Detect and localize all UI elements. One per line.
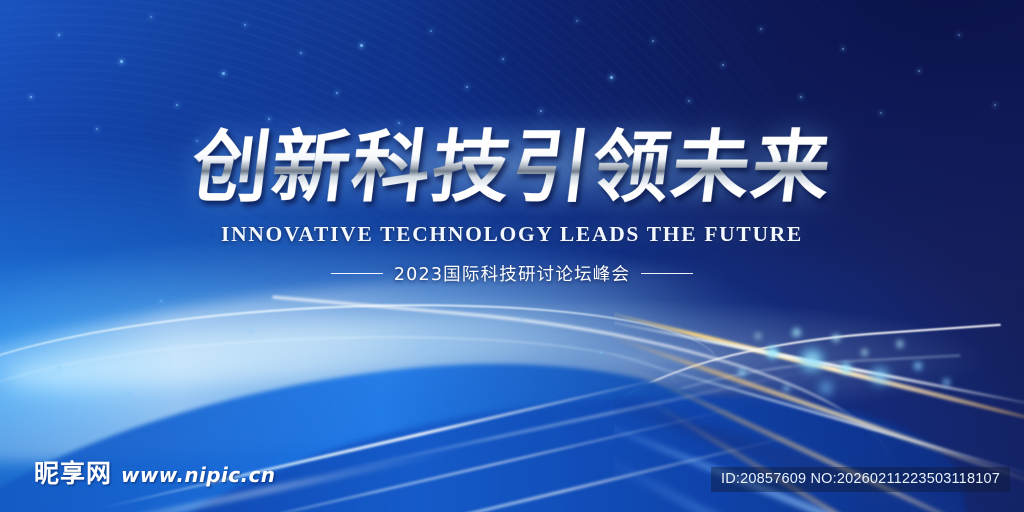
- asset-id-text: ID:20857609 NO:20260211223503118107: [721, 471, 1000, 487]
- light-particle: [340, 312, 342, 314]
- watermark-logo: 昵享网: [34, 454, 112, 490]
- light-particle: [610, 76, 613, 79]
- light-particle: [160, 300, 162, 302]
- light-particle: [520, 318, 522, 320]
- light-particle: [176, 104, 178, 106]
- bokeh-particle: [755, 333, 761, 339]
- light-particle: [128, 392, 130, 394]
- light-particle: [58, 366, 60, 368]
- light-particle: [360, 44, 363, 47]
- light-particle: [800, 96, 802, 98]
- bokeh-particle: [819, 381, 833, 395]
- wave-ribbon-3: [262, 295, 905, 476]
- light-particle: [880, 112, 882, 114]
- light-particle: [430, 30, 432, 32]
- light-particle: [918, 70, 920, 72]
- light-particle: [250, 330, 252, 332]
- light-particle: [420, 348, 422, 350]
- light-particle: [760, 28, 762, 30]
- light-particle: [120, 60, 123, 63]
- light-trail-white-1: [614, 315, 1024, 411]
- light-particle: [466, 86, 468, 88]
- light-particle: [576, 20, 578, 22]
- watermark-url[interactable]: www.nipic.cn: [121, 463, 275, 487]
- bokeh-particle: [871, 367, 889, 385]
- light-particle: [722, 64, 724, 66]
- watermark[interactable]: 昵享网 www.nipic.cn: [34, 454, 275, 490]
- light-particle: [300, 52, 302, 54]
- subtitle-english: INNOVATIVE TECHNOLOGY LEADS THE FUTURE: [0, 222, 1024, 247]
- light-particle: [540, 110, 542, 112]
- light-trail-white-2: [614, 347, 1024, 480]
- bokeh-particle: [792, 328, 801, 337]
- light-trail-gold-4: [630, 389, 1011, 512]
- wave-streak-4: [313, 364, 834, 477]
- bokeh-particle: [861, 349, 868, 356]
- rule-left-icon: [331, 273, 383, 275]
- light-particle: [994, 104, 996, 106]
- light-particle: [58, 34, 60, 36]
- light-particle: [244, 24, 246, 26]
- bokeh-particle: [800, 348, 824, 372]
- page-title: 创新科技引领未来: [187, 126, 837, 210]
- light-particle: [502, 58, 504, 60]
- wave-ribbon-2: [0, 325, 677, 423]
- wave-ribbon-right-2: [613, 354, 964, 435]
- asset-id-strip: ID:20857609 NO:20260211223503118107: [711, 467, 1010, 492]
- wave-ribbon-1: [0, 286, 719, 422]
- wave-streak-1: [89, 371, 688, 512]
- wave-ribbon-right-1: [592, 324, 1006, 436]
- poster-canvas: 创新科技引领未来 INNOVATIVE TECHNOLOGY LEADS THE…: [0, 0, 1024, 512]
- bokeh-particle: [840, 362, 852, 374]
- main-title-wrap: 创新科技引领未来: [192, 126, 832, 210]
- light-particle: [222, 72, 225, 75]
- bokeh-particle: [766, 346, 779, 359]
- light-particle: [958, 34, 960, 36]
- light-trail-gold-1: [614, 306, 1024, 430]
- bokeh-particle: [942, 378, 951, 387]
- bokeh-particle: [896, 340, 904, 348]
- light-particle: [336, 92, 338, 94]
- light-particle: [150, 16, 152, 18]
- rule-right-icon: [641, 273, 693, 275]
- light-particle: [30, 96, 32, 98]
- bokeh-particle: [738, 368, 746, 376]
- light-particle: [268, 118, 270, 120]
- event-name: 2023国际科技研讨论坛峰会: [394, 261, 630, 286]
- light-particle: [600, 352, 602, 354]
- wave-glow-band: [0, 285, 738, 405]
- light-trail-road-shadow: [614, 380, 1024, 512]
- bokeh-particle: [783, 385, 790, 392]
- bokeh-particle: [913, 361, 923, 371]
- light-particle: [842, 48, 844, 50]
- headline-block: 创新科技引领未来 INNOVATIVE TECHNOLOGY LEADS THE…: [0, 126, 1024, 286]
- light-trail-blue-1: [614, 409, 1024, 512]
- bokeh-particle: [832, 334, 840, 342]
- light-particle: [688, 100, 690, 102]
- light-particle: [652, 40, 654, 42]
- event-line: 2023国际科技研讨论坛峰会: [0, 261, 1024, 286]
